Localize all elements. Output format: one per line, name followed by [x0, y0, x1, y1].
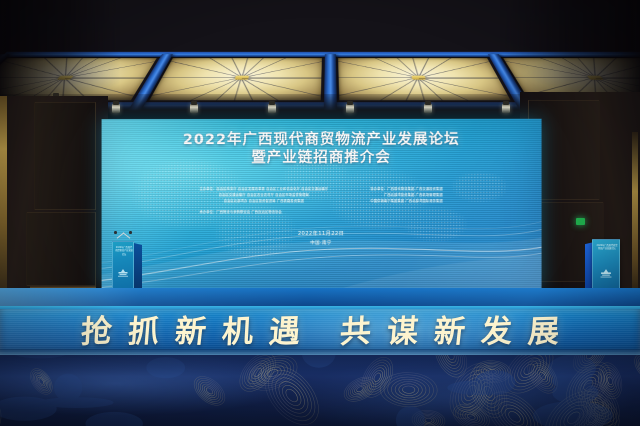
- podium-header-text: 2022年广西现代商贸物流产业发展论坛: [115, 246, 133, 256]
- organizer-row: 承办单位：广西物流与采购联合会 广西自治区物流协会: [200, 209, 329, 215]
- banner-character: 抓: [127, 316, 161, 348]
- screen-content: 2022年广西现代商贸物流产业发展论坛 暨产业链招商推介会 主办单位：自治区商务…: [102, 119, 542, 289]
- organizers-right-column: 协办单位：广西现代物流集团 广西交通投资集团 广西北部湾投资集团 广西机场管理集…: [370, 186, 442, 215]
- wall-left: [0, 96, 108, 308]
- microphone-head-icon: [114, 231, 117, 234]
- forum-title-line-2: 暨产业链招商推介会: [251, 150, 390, 167]
- banner-phrase-1: 抢抓新机遇: [81, 317, 300, 348]
- podium-side-panel: [134, 243, 142, 293]
- event-date-block: 2022年11月22日 中国·南宁: [298, 230, 344, 246]
- organizers-left-column: 主办单位：自治区商务厅 自治区发展改革委 自治区工业和信息化厅 自治区交通运输厅…: [200, 186, 329, 215]
- exit-sign-icon: [576, 218, 585, 225]
- ceiling-spotlight: [346, 104, 354, 113]
- conference-hall-scene: 2022年广西现代商贸物流产业发展论坛 暨产业链招商推介会 主办单位：自治区商务…: [0, 0, 640, 426]
- banner-character: 抢: [80, 316, 113, 349]
- supporting-organizers: 承办单位：广西物流与采购联合会 广西自治区物流协会: [200, 209, 329, 215]
- organizers-block: 主办单位：自治区商务厅 自治区发展改革委 自治区工业和信息化厅 自治区交通运输厅…: [115, 186, 529, 215]
- standing-banner-face: 2022年广西现代商贸物流产业发展论坛: [592, 239, 620, 293]
- ceiling-spotlight: [268, 104, 276, 113]
- wall-left-panel: [34, 102, 96, 210]
- event-logo-icon: [117, 268, 130, 279]
- banner-character: 共: [339, 316, 372, 349]
- wall-left-panel: [26, 212, 96, 286]
- event-date: 2022年11月22日: [298, 230, 344, 237]
- microphone-head-icon: [129, 231, 132, 234]
- banner-character: 机: [221, 316, 254, 349]
- event-place: 中国·南宁: [298, 240, 344, 246]
- banner-character: 展: [527, 316, 561, 348]
- podium-front-panel: 2022年广西现代商贸物流产业发展论坛: [112, 241, 134, 291]
- ceiling-spotlight: [112, 104, 120, 113]
- organizer-row: 自治区北部湾办 自治区投资促进局 广西铁路投资集团: [200, 198, 329, 204]
- led-screen: 2022年广西现代商贸物流产业发展论坛 暨产业链招商推介会 主办单位：自治区商务…: [102, 119, 542, 289]
- carpet-shading: [0, 355, 640, 426]
- wall-right-light-strip: [632, 132, 638, 302]
- ceiling-spotlight: [424, 104, 432, 113]
- ceiling-light-lens: [411, 76, 426, 80]
- standing-banner-header-text: 2022年广西现代商贸物流产业发展论坛: [596, 244, 618, 251]
- banner-character: 发: [480, 316, 513, 349]
- stage-front-banner: 抢抓新机遇 共谋新发展: [0, 309, 640, 355]
- banner-character: 遇: [268, 316, 302, 348]
- ceiling-spotlight: [502, 104, 510, 113]
- event-logo-icon: [599, 268, 614, 280]
- carpet: [0, 355, 640, 426]
- forum-title-line-1: 2022年广西现代商贸物流产业发展论坛: [183, 132, 460, 149]
- banner-character: 谋: [386, 316, 420, 348]
- organizer-row: 中国供销南宁集团集团 广西北部湾国际港务集团: [370, 198, 442, 204]
- wall-left-light-strip: [0, 96, 7, 308]
- banner-character: 新: [432, 316, 466, 347]
- podium: 2022年广西现代商贸物流产业发展论坛: [112, 241, 142, 293]
- ceiling-light-lens: [234, 76, 249, 80]
- ceiling-spotlight: [190, 104, 198, 113]
- banner-character: 新: [173, 316, 207, 347]
- banner-phrase-2: 共谋新发展: [340, 317, 559, 348]
